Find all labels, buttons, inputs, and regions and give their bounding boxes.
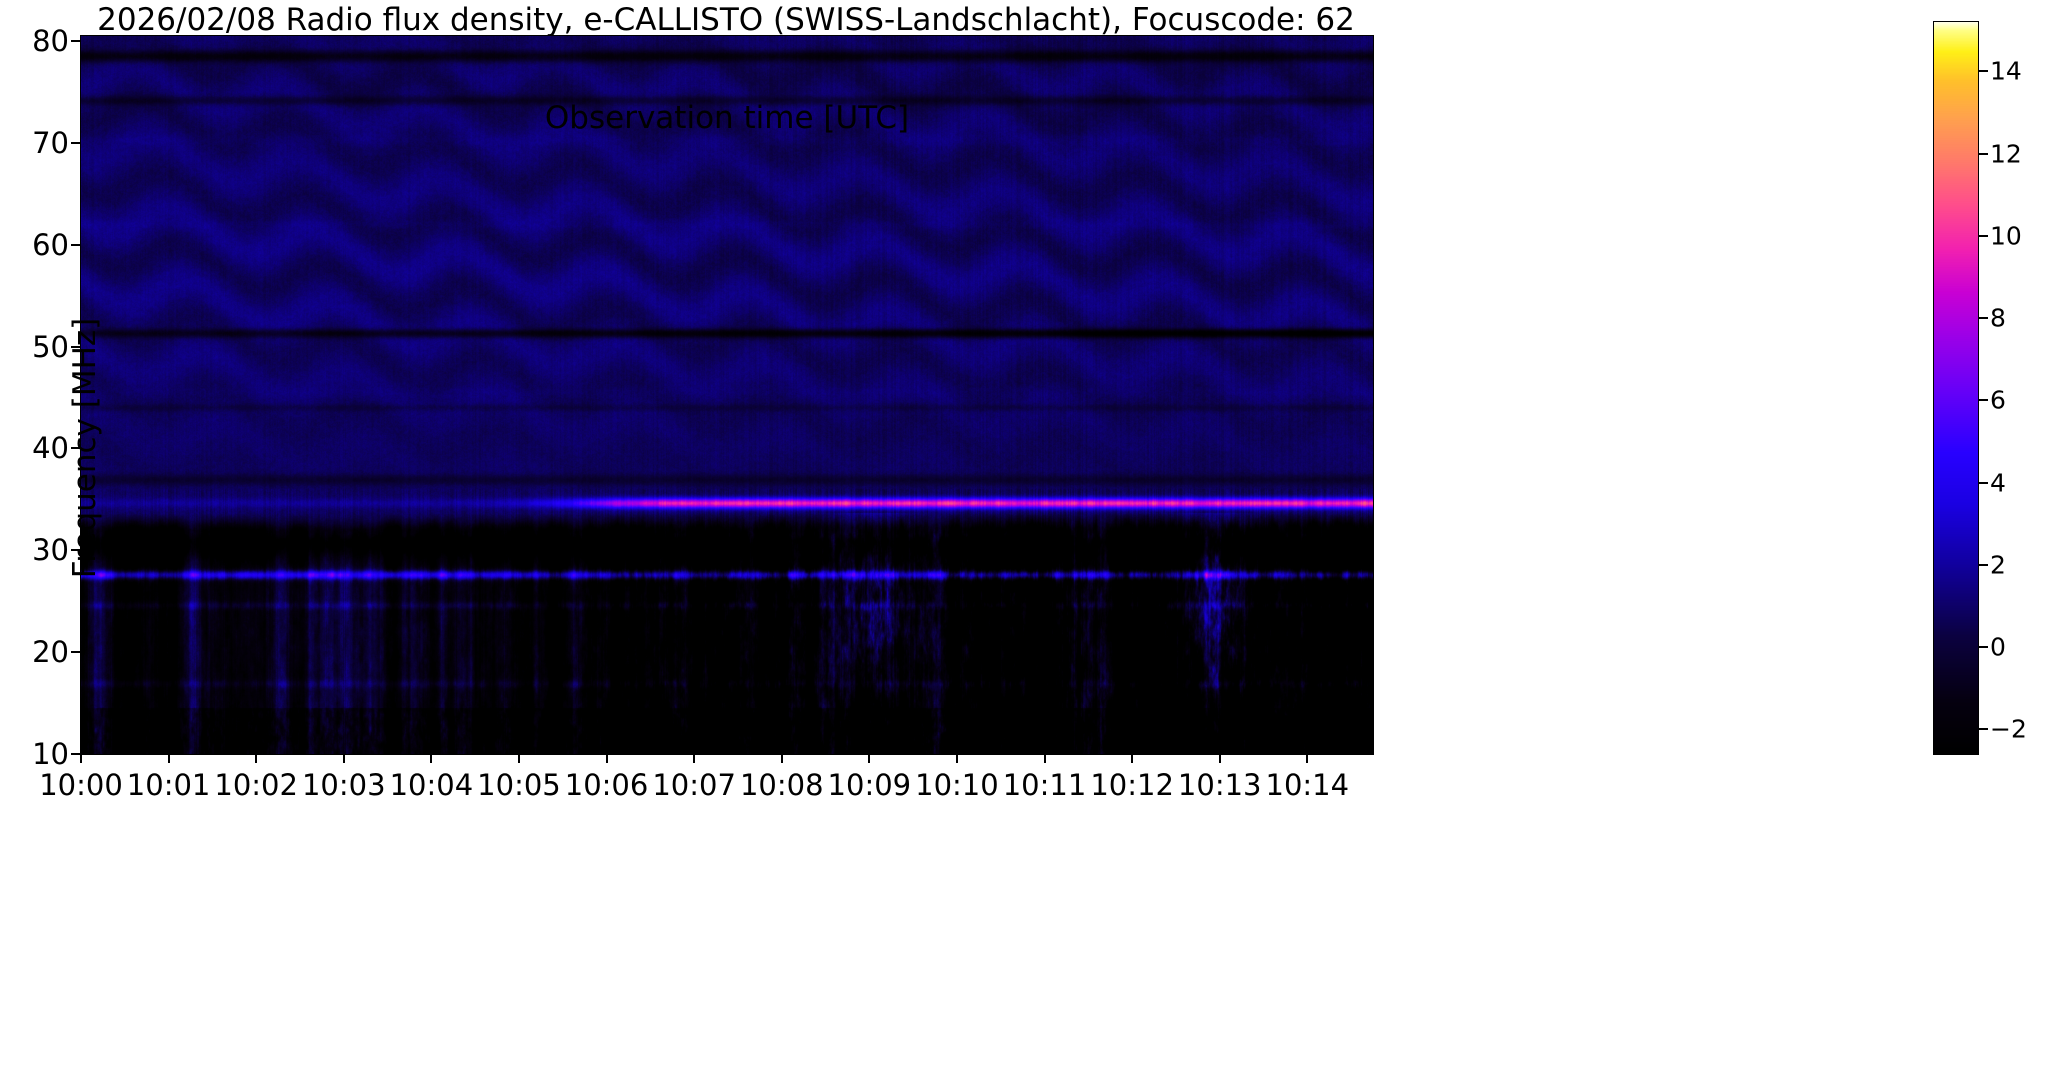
x-tick-mark (255, 754, 257, 763)
spectrogram-image[interactable] (81, 36, 1373, 754)
x-tick-label: 10:11 (1003, 768, 1087, 802)
colorbar-tick-label: 14 (1990, 57, 2022, 86)
x-tick-label: 10:02 (214, 768, 298, 802)
x-axis-label: Observation time [UTC] (81, 100, 1373, 136)
x-tick-mark (693, 754, 695, 763)
y-tick-mark (71, 142, 80, 144)
colorbar-tick-mark (1979, 317, 1988, 319)
colorbar-tick-mark (1979, 646, 1988, 648)
x-tick-mark (1044, 754, 1046, 763)
x-tick-label: 10:14 (1266, 768, 1350, 802)
x-tick-label: 10:07 (652, 768, 736, 802)
x-tick-mark (1131, 754, 1133, 763)
x-tick-mark (343, 754, 345, 763)
x-tick-label: 10:01 (127, 768, 211, 802)
x-tick-label: 10:09 (828, 768, 912, 802)
y-tick-label: 70 (19, 126, 69, 160)
spectrogram-axes[interactable]: 8070605040302010 10:0010:0110:0210:0310:… (80, 35, 1374, 755)
colorbar-tick-mark (1979, 70, 1988, 72)
x-tick-mark (606, 754, 608, 763)
colorbar-tick-mark (1979, 153, 1988, 155)
y-tick-mark (71, 753, 80, 755)
colorbar-tick-mark (1979, 235, 1988, 237)
colorbar-tick-label: 8 (1990, 304, 2006, 333)
x-tick-mark (1306, 754, 1308, 763)
x-tick-mark (168, 754, 170, 763)
x-tick-mark (80, 754, 82, 763)
x-tick-label: 10:06 (565, 768, 649, 802)
colorbar-tick-label: 12 (1990, 139, 2022, 168)
x-tick-mark (781, 754, 783, 763)
colorbar-tick-mark (1979, 482, 1988, 484)
x-tick-label: 10:13 (1178, 768, 1262, 802)
colorbar[interactable]: −202468101214 (1933, 21, 1979, 755)
x-tick-label: 10:00 (39, 768, 123, 802)
x-tick-label: 10:03 (302, 768, 386, 802)
x-tick-mark (518, 754, 520, 763)
colorbar-tick-label: 2 (1990, 550, 2006, 579)
colorbar-tick-label: −2 (1990, 715, 2027, 744)
y-tick-label: 50 (19, 330, 69, 364)
spectrogram-figure: 2026/02/08 Radio flux density, e-CALLIST… (0, 0, 2047, 1067)
colorbar-tick-label: 10 (1990, 221, 2022, 250)
y-tick-label: 20 (19, 635, 69, 669)
y-tick-label: 60 (19, 228, 69, 262)
y-axis-label: Frequency [MHz] (67, 208, 103, 688)
x-tick-label: 10:08 (740, 768, 824, 802)
x-tick-label: 10:05 (477, 768, 561, 802)
x-tick-mark (956, 754, 958, 763)
x-tick-label: 10:04 (390, 768, 474, 802)
colorbar-tick-label: 4 (1990, 468, 2006, 497)
x-tick-label: 10:10 (915, 768, 999, 802)
x-tick-mark (868, 754, 870, 763)
colorbar-tick-label: 0 (1990, 633, 2006, 662)
y-tick-label: 10 (19, 737, 69, 771)
x-tick-label: 10:12 (1090, 768, 1174, 802)
y-tick-mark (71, 40, 80, 42)
colorbar-tick-mark (1979, 564, 1988, 566)
y-tick-label: 80 (19, 24, 69, 58)
y-tick-label: 30 (19, 533, 69, 567)
colorbar-gradient (1934, 22, 1978, 754)
colorbar-tick-label: 6 (1990, 386, 2006, 415)
x-tick-mark (430, 754, 432, 763)
x-tick-mark (1219, 754, 1221, 763)
page-title: 2026/02/08 Radio flux density, e-CALLIST… (80, 2, 1372, 38)
colorbar-tick-mark (1979, 399, 1988, 401)
y-tick-label: 40 (19, 431, 69, 465)
colorbar-tick-mark (1979, 728, 1988, 730)
